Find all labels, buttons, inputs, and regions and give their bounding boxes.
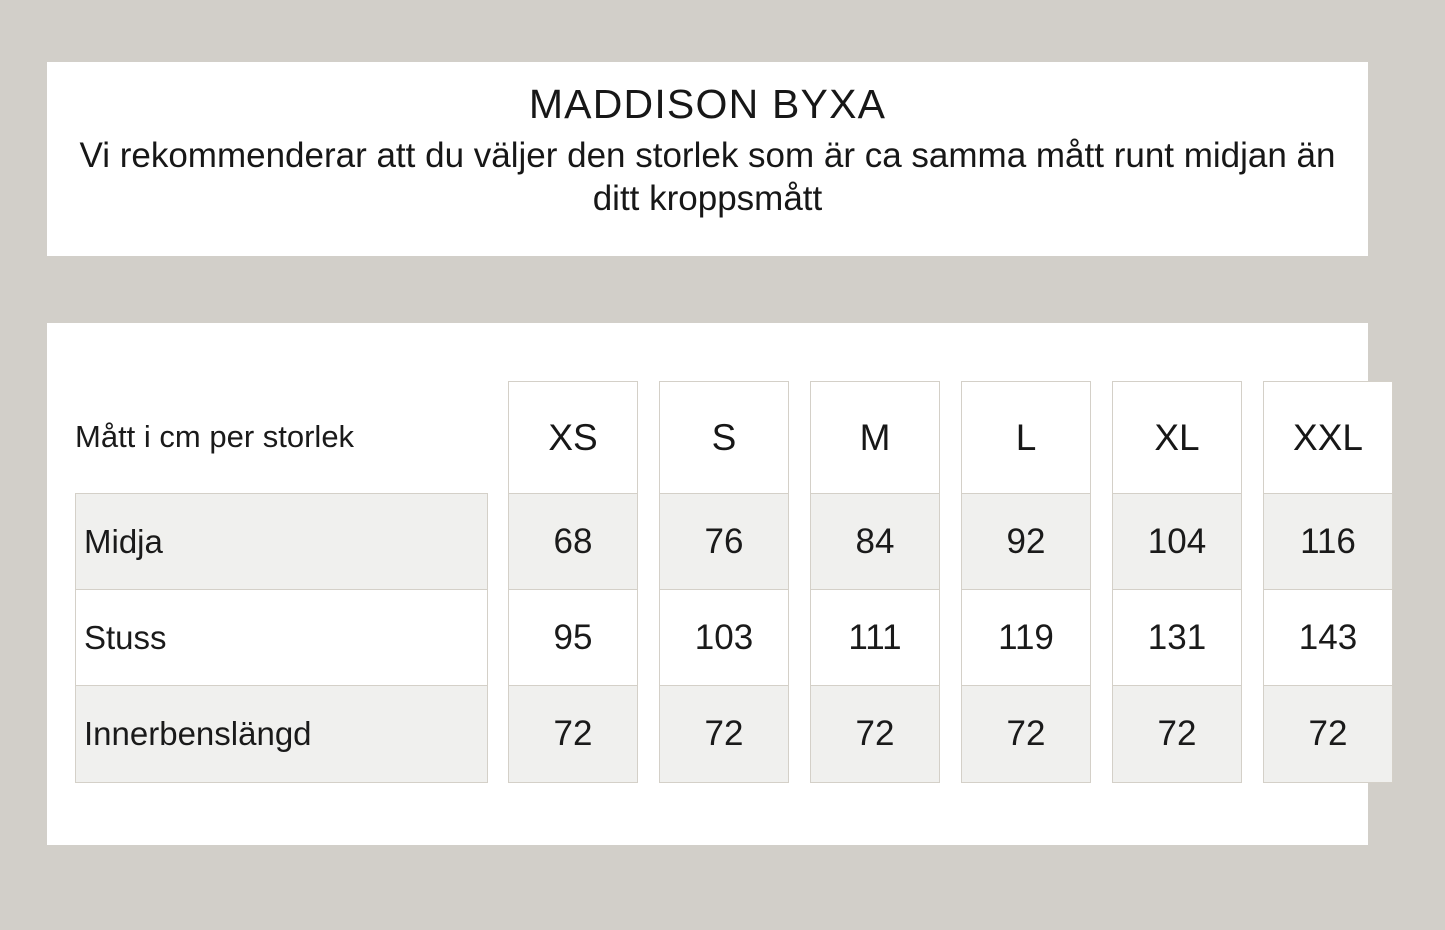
cell-innerbenslangd-xxl: 72 xyxy=(1264,686,1392,782)
cell-innerbenslangd-m: 72 xyxy=(811,686,939,782)
size-header-l: L xyxy=(962,382,1090,494)
size-column-m: M 84 111 72 xyxy=(810,381,940,783)
size-header-m: M xyxy=(811,382,939,494)
row-label-innerbenslangd: Innerbenslängd xyxy=(76,686,487,782)
size-columns: XS 68 95 72 S 76 103 72 M 84 111 72 xyxy=(508,381,1393,783)
corner-label: Mått i cm per storlek xyxy=(75,381,488,493)
row-label-midja: Midja xyxy=(76,494,487,590)
cell-stuss-xs: 95 xyxy=(509,590,637,686)
cell-midja-l: 92 xyxy=(962,494,1090,590)
cell-stuss-s: 103 xyxy=(660,590,788,686)
page-subtitle: Vi rekommenderar att du väljer den storl… xyxy=(68,134,1348,220)
cell-innerbenslangd-xs: 72 xyxy=(509,686,637,782)
cell-midja-xxl: 116 xyxy=(1264,494,1392,590)
size-header-s: S xyxy=(660,382,788,494)
header-card: MADDISON BYXA Vi rekommenderar att du vä… xyxy=(47,62,1368,256)
size-table: Mått i cm per storlek Midja Stuss Innerb… xyxy=(75,381,1350,783)
cell-stuss-l: 119 xyxy=(962,590,1090,686)
size-header-xl: XL xyxy=(1113,382,1241,494)
row-label-stuss: Stuss xyxy=(76,590,487,686)
size-column-xl: XL 104 131 72 xyxy=(1112,381,1242,783)
cell-stuss-xl: 131 xyxy=(1113,590,1241,686)
cell-midja-s: 76 xyxy=(660,494,788,590)
size-column-l: L 92 119 72 xyxy=(961,381,1091,783)
size-header-xs: XS xyxy=(509,382,637,494)
page-title: MADDISON BYXA xyxy=(529,80,886,128)
cell-midja-xs: 68 xyxy=(509,494,637,590)
cell-stuss-xxl: 143 xyxy=(1264,590,1392,686)
size-column-s: S 76 103 72 xyxy=(659,381,789,783)
size-table-card: Mått i cm per storlek Midja Stuss Innerb… xyxy=(47,323,1368,845)
size-header-xxl: XXL xyxy=(1264,382,1392,494)
measurement-label-block: Midja Stuss Innerbenslängd xyxy=(75,493,488,783)
cell-midja-m: 84 xyxy=(811,494,939,590)
size-column-xs: XS 68 95 72 xyxy=(508,381,638,783)
cell-midja-xl: 104 xyxy=(1113,494,1241,590)
cell-innerbenslangd-s: 72 xyxy=(660,686,788,782)
size-column-xxl: XXL 116 143 72 xyxy=(1263,381,1393,783)
cell-innerbenslangd-xl: 72 xyxy=(1113,686,1241,782)
size-chart-page: MADDISON BYXA Vi rekommenderar att du vä… xyxy=(0,0,1445,930)
measurement-label-column: Mått i cm per storlek Midja Stuss Innerb… xyxy=(75,381,488,783)
cell-innerbenslangd-l: 72 xyxy=(962,686,1090,782)
cell-stuss-m: 111 xyxy=(811,590,939,686)
